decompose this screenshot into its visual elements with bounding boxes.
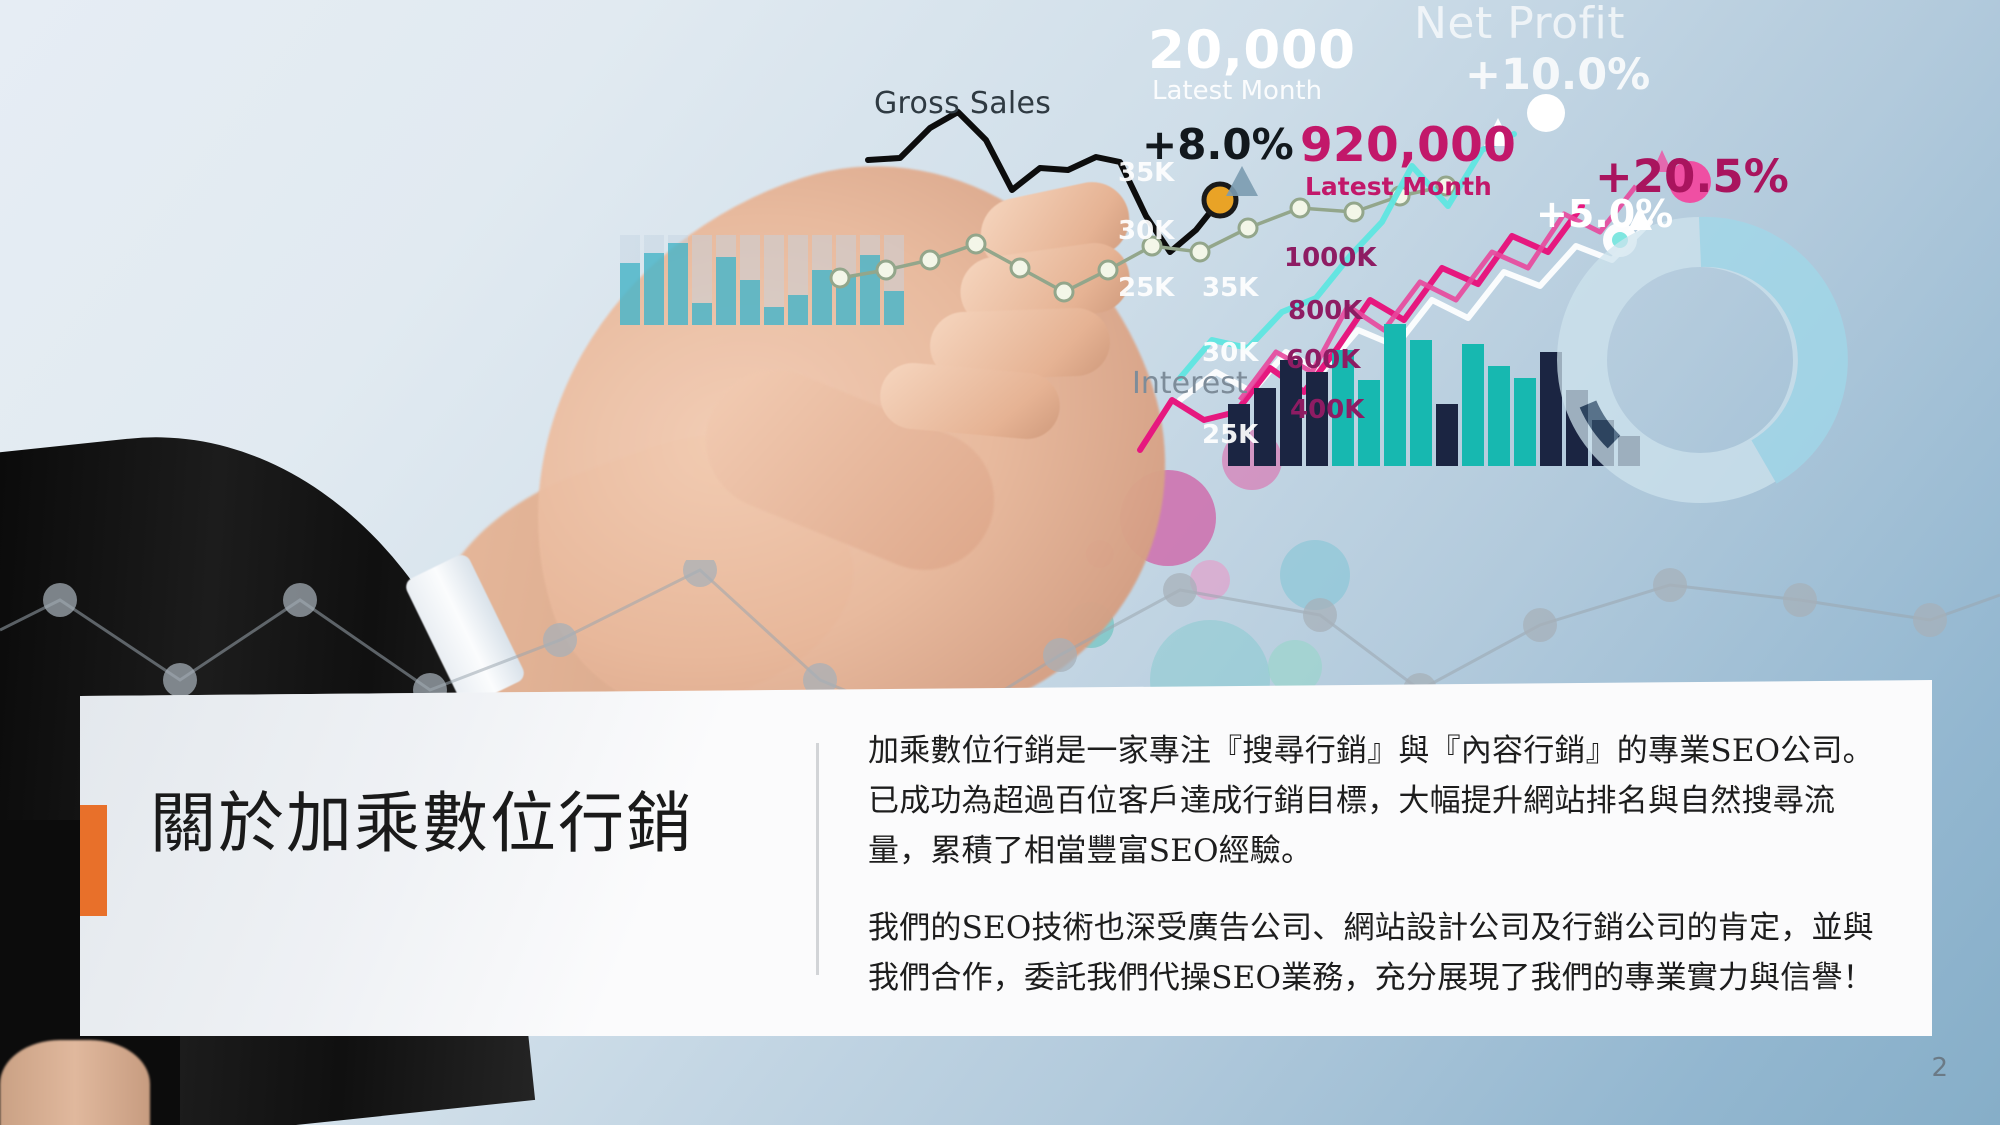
axis-tick-800k: 800K bbox=[1288, 296, 1362, 326]
small-blue-bar-chart bbox=[620, 235, 904, 325]
axis-tick-25k-mid: 25K bbox=[1202, 420, 1258, 450]
body-text-block: 加乘數位行銷是一家專注『搜尋行銷』與『內容行銷』的專業SEO公司。已成功為超過百… bbox=[868, 726, 1888, 1003]
vertical-divider bbox=[816, 743, 819, 975]
axis-tick-30k-left: 30K bbox=[1118, 216, 1174, 246]
paragraph-2: 我們的SEO技術也深受廣告公司、網站設計公司及行銷公司的肯定，並與我們合作，委託… bbox=[868, 903, 1888, 1003]
revenue-caption: Latest Month bbox=[1305, 172, 1492, 201]
axis-tick-30k-mid: 30K bbox=[1202, 338, 1258, 368]
axis-tick-600k: 600K bbox=[1286, 345, 1360, 375]
slide-canvas: Gross Sales Interest Net Profit 20,000 L… bbox=[0, 0, 2000, 1125]
arm-lower bbox=[0, 1040, 150, 1125]
revenue-value: 920,000 bbox=[1300, 118, 1516, 173]
axis-tick-35k-mid: 35K bbox=[1202, 273, 1258, 303]
axis-tick-35k-left: 35K bbox=[1118, 158, 1174, 188]
title-block: 關於加乘數位行銷 bbox=[150, 788, 790, 861]
net-profit-label: Net Profit bbox=[1414, 0, 1625, 49]
title-accent-bar bbox=[80, 805, 107, 916]
page-number: 2 bbox=[1931, 1053, 1948, 1083]
donut-chart bbox=[1582, 242, 1823, 478]
gross-sales-value: 20,000 bbox=[1148, 20, 1356, 81]
interest-label: Interest bbox=[1132, 366, 1248, 401]
gross-sales-label: Gross Sales bbox=[874, 86, 1051, 121]
gross-sales-caption: Latest Month bbox=[1152, 76, 1322, 106]
axis-tick-25k-left: 25K bbox=[1118, 273, 1174, 303]
page-title: 關於加乘數位行銷 bbox=[150, 788, 790, 861]
net-profit-change: +10.0% bbox=[1465, 50, 1650, 100]
paragraph-1: 加乘數位行銷是一家專注『搜尋行銷』與『內容行銷』的專業SEO公司。已成功為超過百… bbox=[868, 726, 1888, 877]
axis-tick-1000k: 1000K bbox=[1284, 243, 1377, 273]
secondary-change: +5.0% bbox=[1536, 192, 1673, 236]
axis-tick-400k: 400K bbox=[1290, 395, 1364, 425]
